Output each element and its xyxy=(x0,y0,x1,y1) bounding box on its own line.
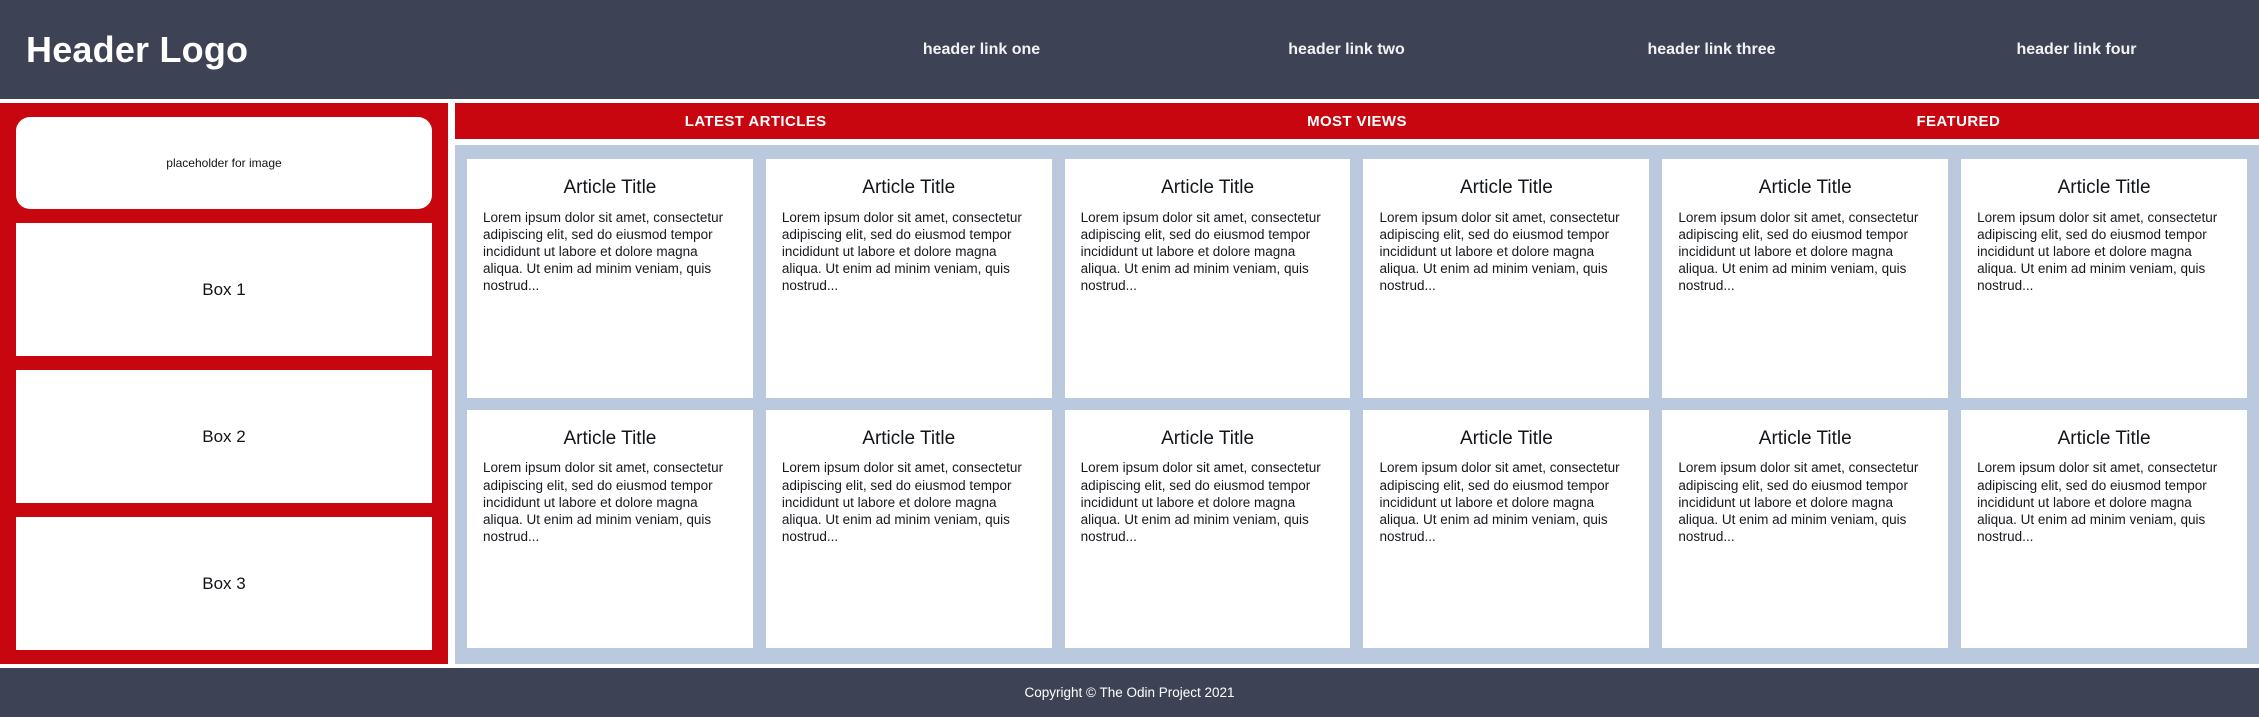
article-row: Article Title Lorem ipsum dolor sit amet… xyxy=(467,159,2247,398)
article-excerpt: Lorem ipsum dolor sit amet, consectetur … xyxy=(1379,459,1633,545)
tab-featured[interactable]: FEATURED xyxy=(1658,113,2259,130)
article-excerpt: Lorem ipsum dolor sit amet, consectetur … xyxy=(483,459,737,545)
sidebar: placeholder for image Box 1 Box 2 Box 3 xyxy=(0,103,448,664)
header-link-four[interactable]: header link four xyxy=(1894,41,2259,59)
article-title: Article Title xyxy=(1678,429,1932,450)
article-title: Article Title xyxy=(483,178,737,199)
section-tabs-bar: LATEST ARTICLES MOST VIEWS FEATURED xyxy=(455,103,2259,139)
article-title: Article Title xyxy=(1081,429,1335,450)
sidebar-box-2[interactable]: Box 2 xyxy=(16,370,432,503)
main-content: LATEST ARTICLES MOST VIEWS FEATURED Arti… xyxy=(455,103,2259,664)
tab-latest-articles[interactable]: LATEST ARTICLES xyxy=(455,113,1056,130)
article-title: Article Title xyxy=(782,429,1036,450)
sidebar-box-3[interactable]: Box 3 xyxy=(16,517,432,650)
article-title: Article Title xyxy=(1379,178,1633,199)
article-card[interactable]: Article Title Lorem ipsum dolor sit amet… xyxy=(1961,159,2247,398)
site-header: Header Logo header link one header link … xyxy=(0,0,2259,99)
article-excerpt: Lorem ipsum dolor sit amet, consectetur … xyxy=(1977,209,2231,295)
article-row: Article Title Lorem ipsum dolor sit amet… xyxy=(467,410,2247,649)
article-title: Article Title xyxy=(1977,429,2231,450)
sidebar-box-3-label: Box 3 xyxy=(202,574,245,594)
article-excerpt: Lorem ipsum dolor sit amet, consectetur … xyxy=(1678,459,1932,545)
sidebar-box-1-label: Box 1 xyxy=(202,280,245,300)
article-excerpt: Lorem ipsum dolor sit amet, consectetur … xyxy=(1081,459,1335,545)
articles-container: Article Title Lorem ipsum dolor sit amet… xyxy=(455,145,2259,664)
article-excerpt: Lorem ipsum dolor sit amet, consectetur … xyxy=(1379,209,1633,295)
body-area: placeholder for image Box 1 Box 2 Box 3 … xyxy=(0,99,2259,668)
header-logo[interactable]: Header Logo xyxy=(26,29,248,71)
article-excerpt: Lorem ipsum dolor sit amet, consectetur … xyxy=(782,209,1036,295)
sidebar-image-placeholder-label: placeholder for image xyxy=(166,156,281,170)
header-link-one[interactable]: header link one xyxy=(799,41,1164,59)
article-excerpt: Lorem ipsum dolor sit amet, consectetur … xyxy=(782,459,1036,545)
article-card[interactable]: Article Title Lorem ipsum dolor sit amet… xyxy=(467,159,753,398)
article-excerpt: Lorem ipsum dolor sit amet, consectetur … xyxy=(1977,459,2231,545)
footer-copyright: Copyright © The Odin Project 2021 xyxy=(1024,685,1234,700)
header-link-three[interactable]: header link three xyxy=(1529,41,1894,59)
article-excerpt: Lorem ipsum dolor sit amet, consectetur … xyxy=(483,209,737,295)
header-nav: header link one header link two header l… xyxy=(248,41,2259,59)
article-excerpt: Lorem ipsum dolor sit amet, consectetur … xyxy=(1081,209,1335,295)
article-card[interactable]: Article Title Lorem ipsum dolor sit amet… xyxy=(766,159,1052,398)
article-card[interactable]: Article Title Lorem ipsum dolor sit amet… xyxy=(1363,410,1649,649)
sidebar-box-2-label: Box 2 xyxy=(202,427,245,447)
article-title: Article Title xyxy=(1081,178,1335,199)
article-card[interactable]: Article Title Lorem ipsum dolor sit amet… xyxy=(1662,159,1948,398)
sidebar-box-1[interactable]: Box 1 xyxy=(16,223,432,356)
article-card[interactable]: Article Title Lorem ipsum dolor sit amet… xyxy=(467,410,753,649)
article-card[interactable]: Article Title Lorem ipsum dolor sit amet… xyxy=(1065,410,1351,649)
article-title: Article Title xyxy=(1379,429,1633,450)
article-title: Article Title xyxy=(1678,178,1932,199)
article-title: Article Title xyxy=(483,429,737,450)
article-excerpt: Lorem ipsum dolor sit amet, consectetur … xyxy=(1678,209,1932,295)
article-card[interactable]: Article Title Lorem ipsum dolor sit amet… xyxy=(1363,159,1649,398)
tab-most-views[interactable]: MOST VIEWS xyxy=(1056,113,1657,130)
article-title: Article Title xyxy=(1977,178,2231,199)
article-card[interactable]: Article Title Lorem ipsum dolor sit amet… xyxy=(1961,410,2247,649)
article-title: Article Title xyxy=(782,178,1036,199)
site-footer: Copyright © The Odin Project 2021 xyxy=(0,668,2259,717)
article-card[interactable]: Article Title Lorem ipsum dolor sit amet… xyxy=(1065,159,1351,398)
header-link-two[interactable]: header link two xyxy=(1164,41,1529,59)
sidebar-image-placeholder[interactable]: placeholder for image xyxy=(16,117,432,209)
article-card[interactable]: Article Title Lorem ipsum dolor sit amet… xyxy=(766,410,1052,649)
article-card[interactable]: Article Title Lorem ipsum dolor sit amet… xyxy=(1662,410,1948,649)
page-root: Header Logo header link one header link … xyxy=(0,0,2259,717)
